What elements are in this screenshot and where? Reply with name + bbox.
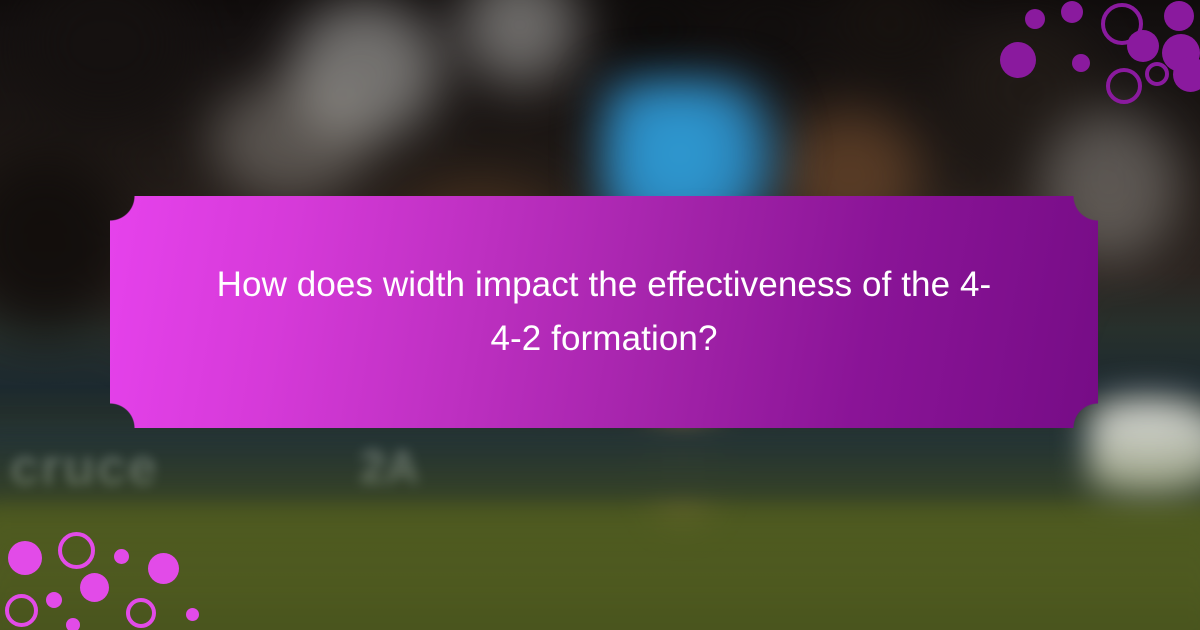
pitch-grass bbox=[0, 420, 1200, 630]
question-text: How does width impact the effectiveness … bbox=[204, 258, 1004, 367]
poster-canvas: cruce 2A How does width impact the effec… bbox=[0, 0, 1200, 630]
question-card: How does width impact the effectiveness … bbox=[110, 196, 1098, 428]
